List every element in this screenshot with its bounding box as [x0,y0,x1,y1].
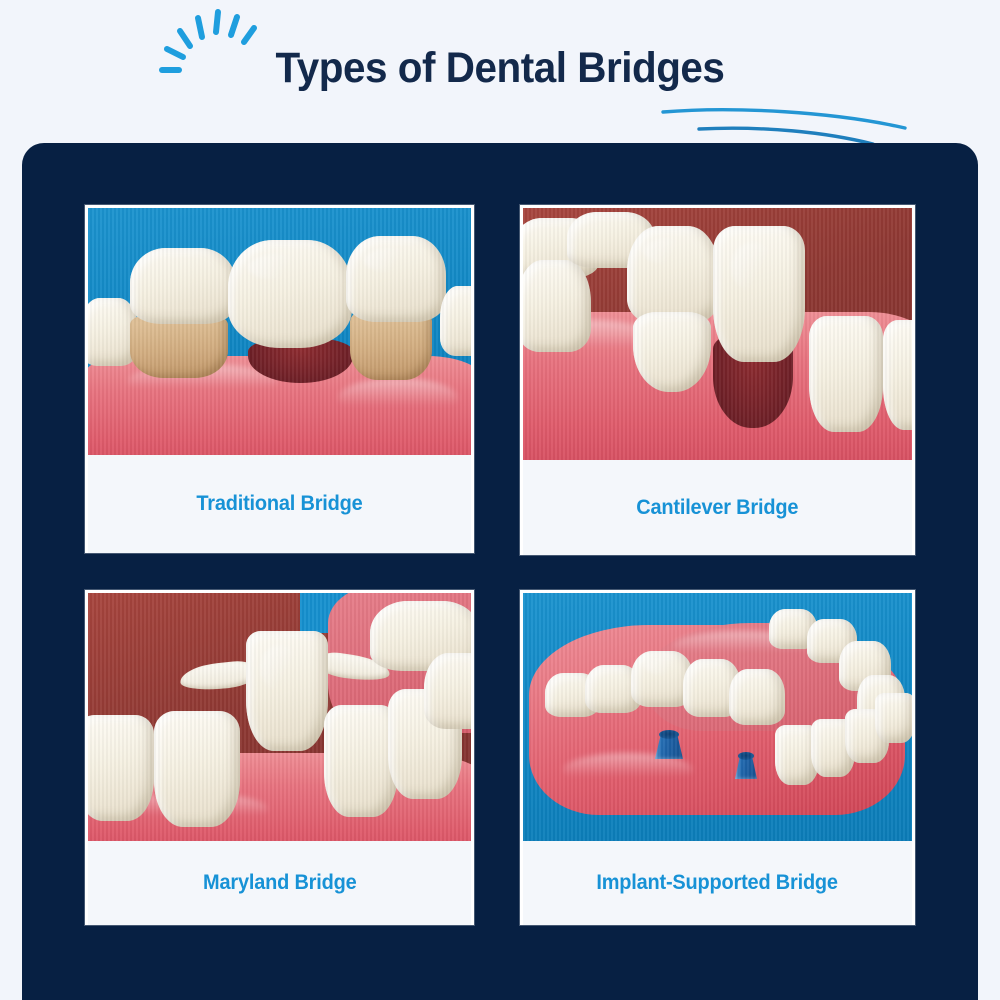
card-traditional-bridge[interactable]: Traditional Bridge [85,205,474,553]
header: Types of Dental Bridges [0,0,1000,143]
caption-cantilever: Cantilever Bridge [523,460,912,555]
card-label-maryland: Maryland Bridge [203,871,356,895]
caption-traditional: Traditional Bridge [88,455,471,553]
card-implant-supported-bridge[interactable]: Implant-Supported Bridge [520,590,915,925]
card-label-implant-supported: Implant-Supported Bridge [597,871,838,895]
caption-maryland: Maryland Bridge [88,841,471,925]
cards-grid: Traditional Bridge [85,205,916,925]
card-maryland-bridge[interactable]: Maryland Bridge [85,590,474,925]
card-image-traditional [88,208,471,455]
card-image-cantilever [523,208,912,460]
page-title: Types of Dental Bridges [30,44,970,93]
infographic-page: Types of Dental Bridges [0,0,1000,1000]
card-image-implant-supported [523,593,912,841]
content-panel: Traditional Bridge [22,143,978,1000]
card-label-traditional: Traditional Bridge [196,492,362,516]
underline-swoosh-icon [655,96,925,148]
caption-implant-supported: Implant-Supported Bridge [523,841,912,925]
card-image-maryland [88,593,471,841]
card-cantilever-bridge[interactable]: Cantilever Bridge [520,205,915,555]
card-label-cantilever: Cantilever Bridge [637,496,799,520]
